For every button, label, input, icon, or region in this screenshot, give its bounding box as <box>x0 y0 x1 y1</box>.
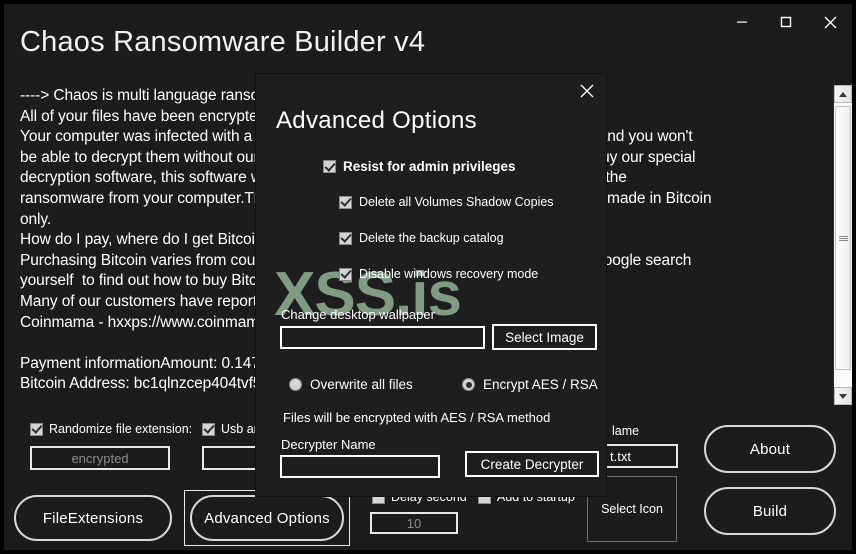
checkbox-label: Randomize file extension: <box>49 422 192 436</box>
build-label: Build <box>753 503 787 520</box>
select-image-button[interactable]: Select Image <box>492 324 597 350</box>
decrypter-name-label: Decrypter Name <box>281 437 376 452</box>
advanced-options-label: Advanced Options <box>204 510 330 527</box>
radio-encrypt-aes-rsa[interactable]: Encrypt AES / RSA <box>462 377 598 392</box>
file-extension-input[interactable]: encrypted <box>30 446 170 470</box>
radio-label: Overwrite all files <box>310 377 413 392</box>
checkbox-icon[interactable] <box>339 196 352 209</box>
page-title: Chaos Ransomware Builder v4 <box>20 26 425 59</box>
file-extensions-button[interactable]: FileExtensions <box>14 495 172 541</box>
checkbox-icon[interactable] <box>30 423 43 436</box>
dropped-file-name-input[interactable]: t.txt <box>604 444 678 468</box>
checkbox-disable-recovery-mode[interactable]: Disable windows recovery mode <box>339 267 538 281</box>
dialog-close-icon[interactable] <box>576 80 598 102</box>
scroll-down-arrow-icon[interactable] <box>834 387 852 405</box>
about-label: About <box>750 441 790 458</box>
radio-label: Encrypt AES / RSA <box>483 377 598 392</box>
app-window: Chaos Ransomware Builder v4 ----> Chaos … <box>0 0 856 554</box>
dropped-file-name-value: t.txt <box>610 449 631 464</box>
advanced-options-button[interactable]: Advanced Options <box>190 495 344 541</box>
window-controls <box>720 4 852 40</box>
select-icon-label: Select Icon <box>601 502 663 516</box>
wallpaper-path-input[interactable] <box>280 326 485 349</box>
build-button[interactable]: Build <box>704 487 836 535</box>
checkbox-icon[interactable] <box>339 268 352 281</box>
create-decrypter-label: Create Decrypter <box>481 457 584 472</box>
minimize-icon[interactable] <box>720 6 764 38</box>
scrollbar-grip-icon <box>839 235 848 242</box>
checkbox-resist-admin-privileges[interactable]: Resist for admin privileges <box>323 159 516 174</box>
file-extension-value: encrypted <box>71 451 128 466</box>
scrollbar-track[interactable] <box>834 103 852 387</box>
wallpaper-label: Change desktop wallpaper <box>281 307 435 322</box>
about-button[interactable]: About <box>704 425 836 473</box>
checkbox-icon[interactable] <box>339 232 352 245</box>
checkbox-delete-backup-catalog[interactable]: Delete the backup catalog <box>339 231 504 245</box>
checkbox-label: Delete all Volumes Shadow Copies <box>359 195 554 209</box>
checkbox-label: Resist for admin privileges <box>343 159 516 174</box>
checkbox-label: Disable windows recovery mode <box>359 267 538 281</box>
scroll-up-arrow-icon[interactable] <box>834 85 852 103</box>
advanced-options-dialog: Advanced Options XSS.is Resist for admin… <box>256 74 606 496</box>
delay-second-input[interactable]: 10 <box>370 512 458 534</box>
delay-second-value: 10 <box>407 516 421 531</box>
checkbox-icon[interactable] <box>323 160 336 173</box>
radio-overwrite-all-files[interactable]: Overwrite all files <box>289 377 413 392</box>
checkbox-label: Delete the backup catalog <box>359 231 504 245</box>
close-icon[interactable] <box>808 6 852 38</box>
radio-icon[interactable] <box>462 378 475 391</box>
maximize-icon[interactable] <box>764 6 808 38</box>
dialog-title: Advanced Options <box>276 107 477 135</box>
create-decrypter-button[interactable]: Create Decrypter <box>465 451 599 477</box>
checkbox-icon[interactable] <box>202 423 215 436</box>
decrypter-name-input[interactable] <box>280 455 440 478</box>
scrollbar-thumb[interactable] <box>835 106 851 370</box>
checkbox-delete-shadow-copies[interactable]: Delete all Volumes Shadow Copies <box>339 195 554 209</box>
file-extensions-label: FileExtensions <box>43 510 143 527</box>
checkbox-randomize-file-extension[interactable]: Randomize file extension: <box>30 422 192 436</box>
note-vertical-scrollbar[interactable] <box>833 85 851 405</box>
mode-hint-text: Files will be encrypted with AES / RSA m… <box>283 410 550 425</box>
radio-icon[interactable] <box>289 378 302 391</box>
select-image-label: Select Image <box>505 330 584 345</box>
dropped-file-name-label: lame <box>612 424 639 438</box>
